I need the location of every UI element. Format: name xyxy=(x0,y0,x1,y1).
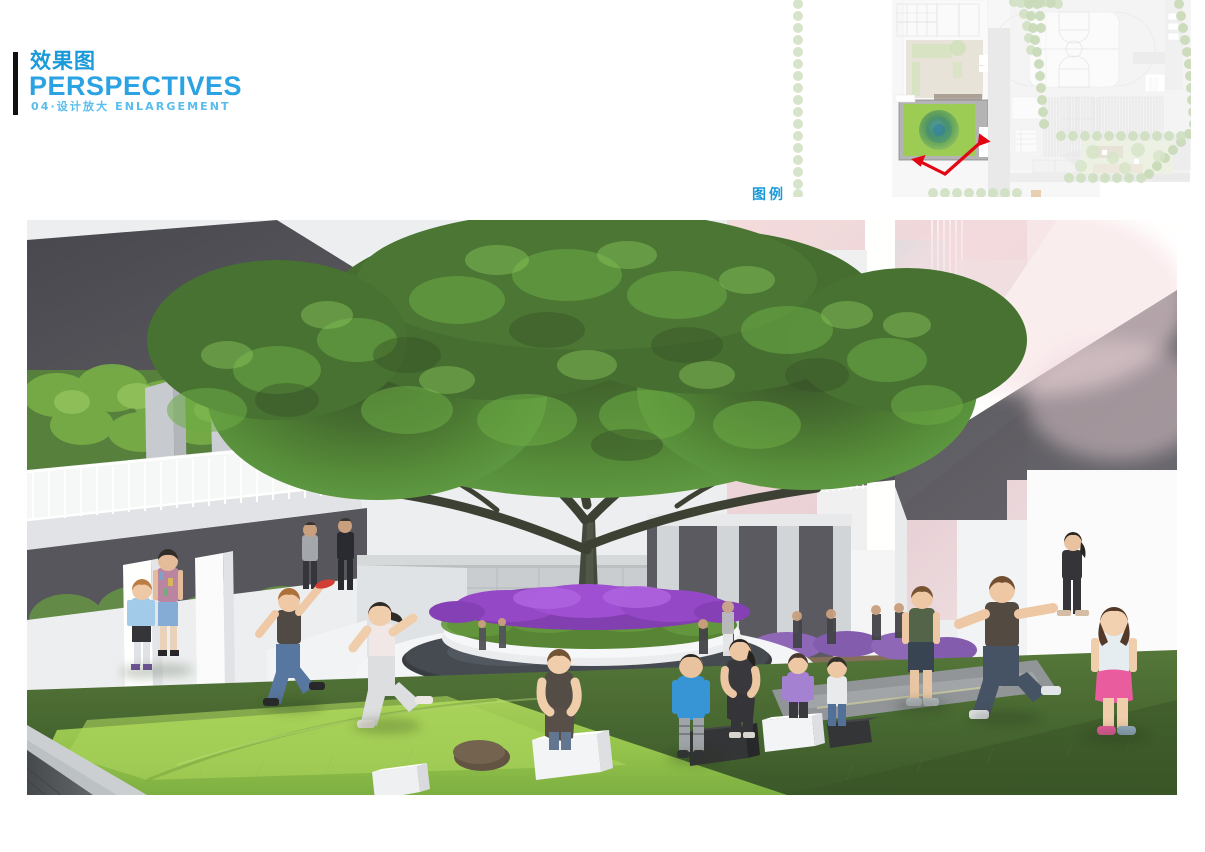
site-key-plan xyxy=(793,0,1191,197)
legend-label: 图例 xyxy=(752,184,786,204)
title-accent-bar xyxy=(13,52,18,115)
highlighted-courtyard xyxy=(899,100,988,160)
page-subtitle: 04·设计放大 ENLARGEMENT xyxy=(31,100,231,114)
page-title-en: PERSPECTIVES xyxy=(29,71,242,101)
page-title-cn: 效果图 xyxy=(30,49,96,73)
board-title-block: 效果图 PERSPECTIVES 04·设计放大 ENLARGEMENT xyxy=(13,52,433,122)
courtyard-perspective-render xyxy=(27,220,1177,795)
